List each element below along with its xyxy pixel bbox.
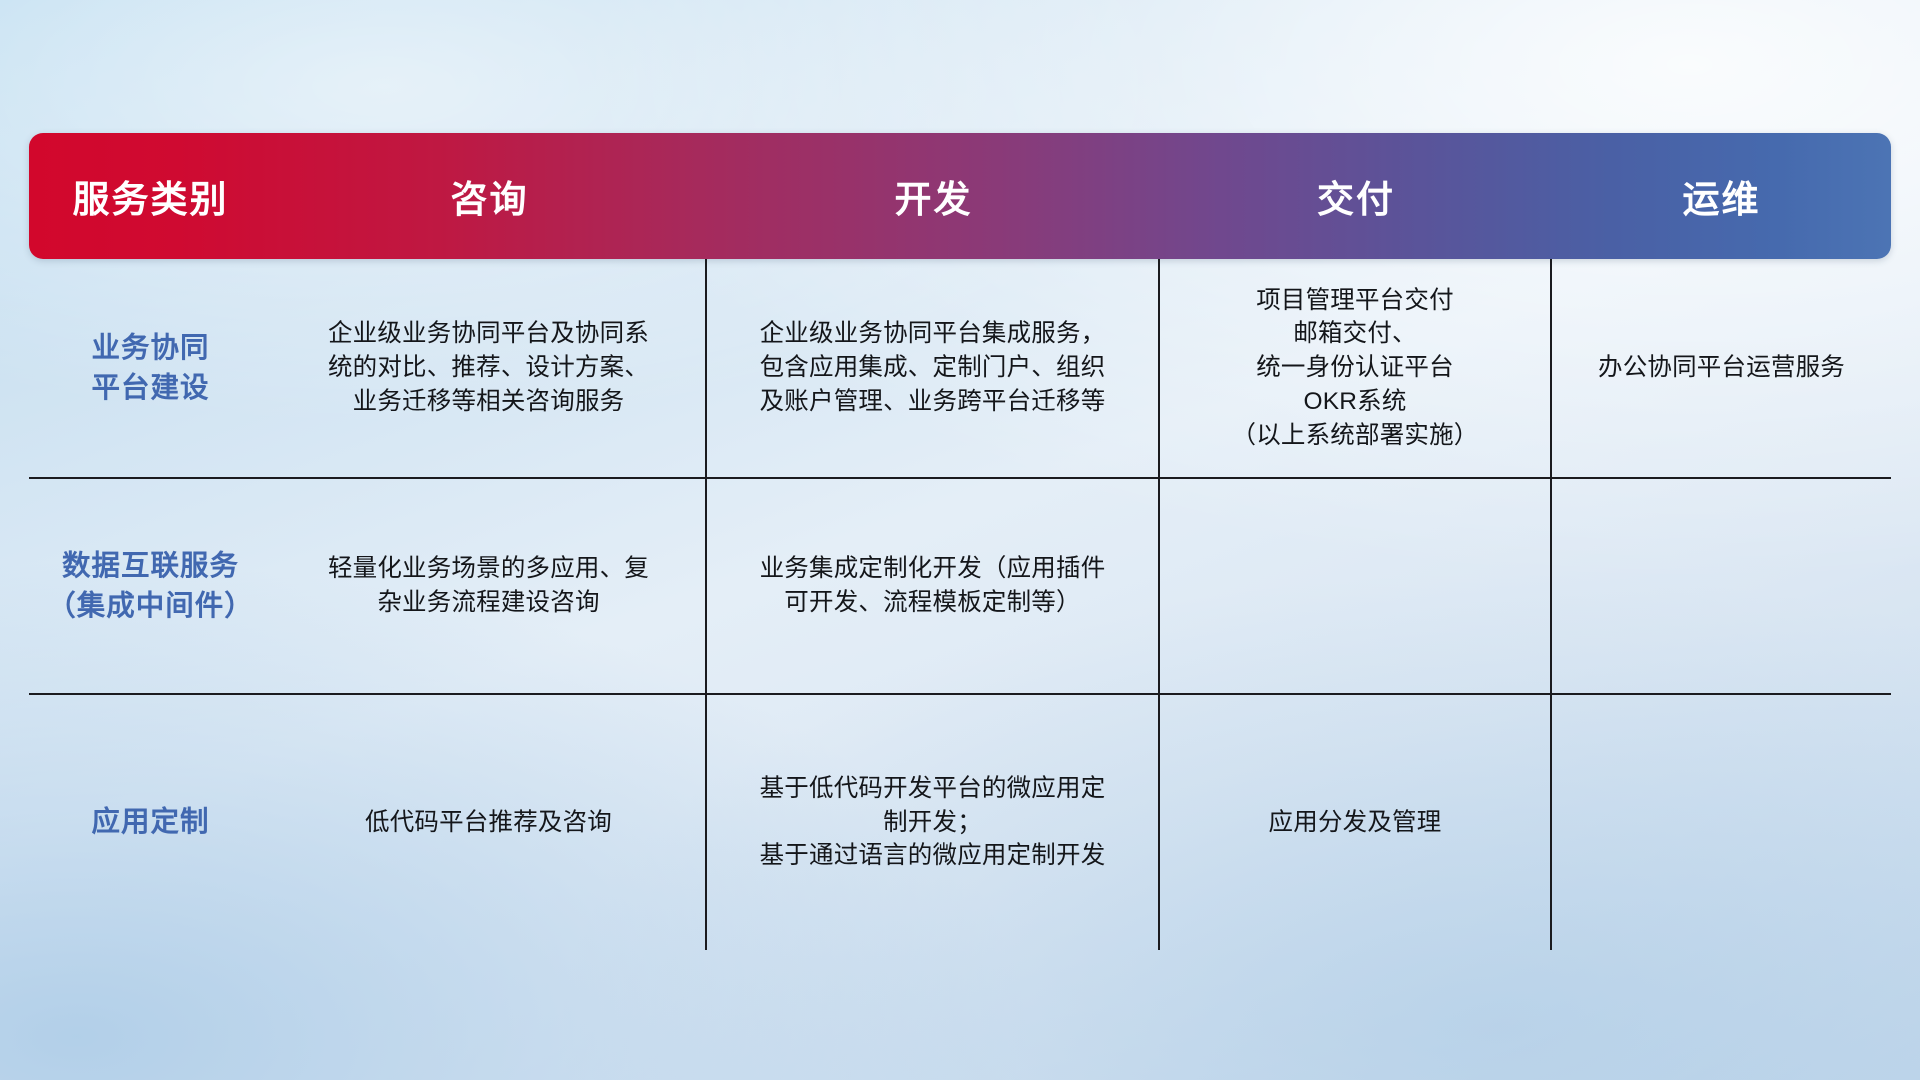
cell-development: 基于低代码开发平台的微应用定 制开发； 基于通过语言的微应用定制开发 [707,695,1160,950]
slide-canvas: 服务类别 咨询 开发 交付 运维 [0,0,1920,1080]
table-row: 业务协同 平台建设 企业级业务协同平台及协同系 统的对比、推荐、设计方案、 业务… [29,259,1891,479]
cell-text: 业务协同 平台建设 [45,328,256,409]
cell-development: 业务集成定制化开发（应用插件 可开发、流程模板定制等） [707,479,1160,695]
header-label-delivery: 交付 [1317,179,1395,220]
cell-consulting: 企业级业务协同平台及协同系 统的对比、推荐、设计方案、 业务迁移等相关咨询服务 [272,259,707,479]
cell-text: 应用分发及管理 [1176,806,1534,840]
cell-text: 基于低代码开发平台的微应用定 制开发； 基于通过语言的微应用定制开发 [723,772,1142,873]
header-cell-development: 开发 [707,133,1160,259]
cell-text: 应用定制 [45,802,256,842]
table-row: 数据互联服务 （集成中间件） 轻量化业务场景的多应用、复 杂业务流程建设咨询 业… [29,479,1891,695]
row-category-label: 应用定制 [29,695,272,950]
cell-delivery [1160,479,1552,695]
cell-text: 数据互联服务 （集成中间件） [45,546,256,627]
row-category-label: 业务协同 平台建设 [29,259,272,479]
header-label-category: 服务类别 [73,179,229,220]
cell-consulting: 轻量化业务场景的多应用、复 杂业务流程建设咨询 [272,479,707,695]
cell-development: 企业级业务协同平台集成服务， 包含应用集成、定制门户、组织 及账户管理、业务跨平… [707,259,1160,479]
header-cell-category: 服务类别 [29,133,272,259]
table-row: 应用定制 低代码平台推荐及咨询 基于低代码开发平台的微应用定 制开发； 基于通过… [29,695,1891,950]
cell-text: 轻量化业务场景的多应用、复 杂业务流程建设咨询 [288,552,689,620]
cell-text: 低代码平台推荐及咨询 [288,806,689,840]
header-row: 服务类别 咨询 开发 交付 运维 [29,133,1891,259]
cell-delivery: 应用分发及管理 [1160,695,1552,950]
header-label-consulting: 咨询 [451,179,529,220]
row-category-label: 数据互联服务 （集成中间件） [29,479,272,695]
cell-text: 项目管理平台交付 邮箱交付、 统一身份认证平台 OKR系统 （以上系统部署实施） [1176,284,1534,453]
header-label-development: 开发 [895,179,973,220]
cell-text: 企业级业务协同平台集成服务， 包含应用集成、定制门户、组织 及账户管理、业务跨平… [723,317,1142,418]
cell-operations: 办公协同平台运营服务 [1552,259,1891,479]
header-cell-operations: 运维 [1552,133,1891,259]
cell-text: 办公协同平台运营服务 [1568,351,1875,385]
table-header: 服务类别 咨询 开发 交付 运维 [29,133,1891,259]
cell-text: 企业级业务协同平台及协同系 统的对比、推荐、设计方案、 业务迁移等相关咨询服务 [288,317,689,418]
header-cell-consulting: 咨询 [272,133,707,259]
header-cell-delivery: 交付 [1160,133,1552,259]
service-matrix-table: 服务类别 咨询 开发 交付 运维 [29,133,1891,950]
cell-operations [1552,479,1891,695]
cell-consulting: 低代码平台推荐及咨询 [272,695,707,950]
cell-text: 业务集成定制化开发（应用插件 可开发、流程模板定制等） [723,552,1142,620]
header-label-operations: 运维 [1683,179,1761,220]
cell-delivery: 项目管理平台交付 邮箱交付、 统一身份认证平台 OKR系统 （以上系统部署实施） [1160,259,1552,479]
matrix-table: 服务类别 咨询 开发 交付 运维 [29,133,1891,950]
cell-operations [1552,695,1891,950]
table-body: 业务协同 平台建设 企业级业务协同平台及协同系 统的对比、推荐、设计方案、 业务… [29,259,1891,950]
